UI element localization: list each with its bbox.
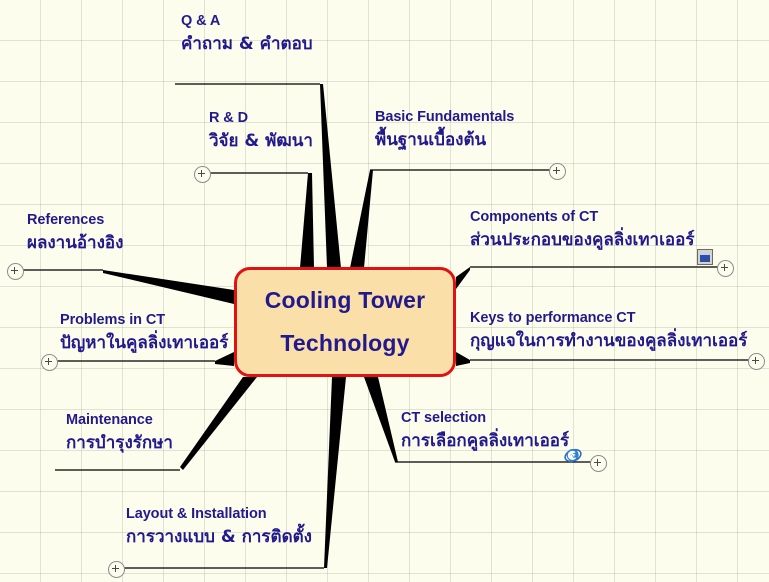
topic-label-th: พื้นฐานเบื้องต้น — [375, 132, 514, 150]
topic-keys-to-performance-ct[interactable]: Keys to performance CT กุญแจในการทำงานขอ… — [470, 311, 747, 351]
topic-label-th: การวางแบบ & การติดตั้ง — [126, 529, 312, 547]
topic-label-en: Maintenance — [66, 413, 173, 428]
expand-button-ct-selection[interactable] — [590, 455, 607, 472]
central-topic-line1: Cooling Tower — [265, 287, 426, 314]
topic-r-and-d[interactable]: R & D วิจัย & พัฒนา — [209, 111, 313, 151]
topic-components-of-ct[interactable]: Components of CT ส่วนประกอบของคูลลิ่งเทา… — [470, 210, 694, 250]
topic-label-en: Layout & Installation — [126, 507, 312, 522]
topic-basic-fundamentals[interactable]: Basic Fundamentals พื้นฐานเบื้องต้น — [375, 110, 514, 150]
topic-q-and-a[interactable]: Q & A คำถาม & คำตอบ — [181, 14, 313, 54]
topic-maintenance[interactable]: Maintenance การบำรุงรักษา — [66, 413, 173, 453]
topic-label-en: Keys to performance CT — [470, 311, 747, 326]
document-icon-inner — [700, 252, 710, 262]
expand-button-problems-in-ct[interactable] — [41, 354, 58, 371]
expand-button-components-of-ct[interactable] — [717, 260, 734, 277]
topic-problems-in-ct[interactable]: Problems in CT ปัญหาในคูลลิ่งเทาเออร์ — [60, 313, 228, 353]
topic-label-th: วิจัย & พัฒนา — [209, 133, 313, 151]
topic-ct-selection[interactable]: CT selection การเลือกคูลลิ่งเทาเออร์ — [401, 411, 569, 451]
expand-button-keys-to-performance-ct[interactable] — [748, 353, 765, 370]
expand-button-basic-fundamentals[interactable] — [549, 163, 566, 180]
topic-label-en: Basic Fundamentals — [375, 110, 514, 125]
topic-label-en: Components of CT — [470, 210, 694, 225]
expand-button-r-and-d[interactable] — [194, 166, 211, 183]
topic-layout-and-installation[interactable]: Layout & Installation การวางแบบ & การติด… — [126, 507, 312, 547]
expand-button-layout-and-installation[interactable] — [108, 561, 125, 578]
topic-label-th: ส่วนประกอบของคูลลิ่งเทาเออร์ — [470, 232, 694, 250]
topic-label-en: Q & A — [181, 14, 313, 29]
topic-label-th: การบำรุงรักษา — [66, 435, 173, 453]
expand-button-references[interactable] — [7, 263, 24, 280]
topic-references[interactable]: References ผลงานอ้างอิง — [27, 213, 123, 253]
svg-text:e: e — [571, 451, 575, 461]
mindmap-canvas: Cooling Tower Technology Q & A คำถาม & ค… — [0, 0, 769, 582]
topic-label-th: คำถาม & คำตอบ — [181, 36, 313, 54]
topic-label-en: Problems in CT — [60, 313, 228, 328]
topic-label-en: CT selection — [401, 411, 569, 426]
document-icon[interactable] — [697, 249, 713, 265]
topic-label-en: References — [27, 213, 123, 228]
topic-label-th: กุญแจในการทำงานของคูลลิ่งเทาเออร์ — [470, 333, 747, 351]
topic-label-th: การเลือกคูลลิ่งเทาเออร์ — [401, 433, 569, 451]
topic-label-th: ผลงานอ้างอิง — [27, 235, 123, 253]
topic-label-en: R & D — [209, 111, 313, 126]
topic-label-th: ปัญหาในคูลลิ่งเทาเออร์ — [60, 335, 228, 353]
central-topic[interactable]: Cooling Tower Technology — [234, 267, 456, 377]
internet-explorer-icon[interactable]: e — [564, 446, 582, 464]
central-topic-line2: Technology — [280, 330, 409, 357]
